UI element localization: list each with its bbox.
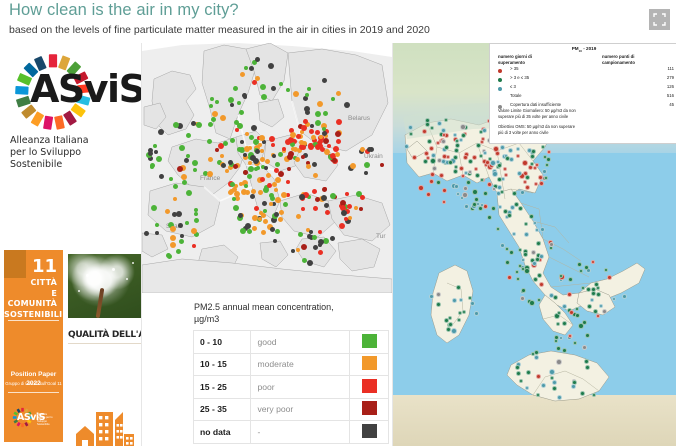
map-data-point (327, 144, 331, 148)
map-data-point (287, 167, 291, 171)
europe-map-panel[interactable]: Belarus Ukrain France Spain Tur PM2.5 an… (141, 43, 392, 446)
pm10-legend-box: PM10 - 2019 numero giorni di superamento… (489, 43, 676, 144)
map-data-point (347, 204, 352, 209)
map-data-point (260, 177, 265, 182)
left-branding-column: ASviS Alleanza Italiana per lo Sviluppo … (0, 43, 141, 446)
map-data-point (463, 186, 468, 191)
map-data-point (207, 171, 213, 177)
map-data-point (436, 180, 441, 185)
legend-range: 0 - 10 (194, 331, 251, 354)
map-data-point (526, 370, 531, 375)
asvis-tagline: Alleanza Italiana per lo Sviluppo Sosten… (10, 135, 138, 171)
map-data-point (515, 270, 519, 274)
map-data-point (192, 160, 198, 166)
legend-table: 0 - 10good10 - 15moderate15 - 25poor25 -… (193, 330, 389, 444)
map-data-point (602, 309, 607, 314)
map-data-point (173, 122, 179, 128)
map-data-point (221, 163, 226, 168)
city-buildings-icon (74, 408, 136, 446)
sdg-goal-line2: E COMUNITÀ (4, 289, 57, 310)
pm10-row-value: 111 (667, 66, 674, 71)
position-paper-sublabel: Gruppo di Lavoro sull'Goal 11 (4, 381, 63, 387)
pm10-legend-row: ≤ 3126 (498, 84, 674, 93)
map-data-point (544, 176, 548, 180)
legend-range: 25 - 35 (194, 398, 251, 421)
legend-title: PM2.5 annual mean concentration, µg/m3 (194, 301, 384, 325)
map-data-point (534, 182, 538, 186)
map-data-point (255, 57, 260, 62)
map-data-point (186, 190, 192, 196)
map-data-point (302, 258, 307, 263)
map-data-point (278, 171, 284, 177)
asvis-tagline-line1: Alleanza Italiana (10, 135, 138, 147)
map-data-point (446, 155, 450, 159)
legend-row: no data- (194, 421, 389, 444)
map-data-point (507, 213, 512, 218)
map-data-point (492, 171, 498, 177)
map-data-point (344, 217, 348, 221)
map-data-point (263, 209, 267, 213)
map-data-point (260, 149, 264, 153)
map-data-point (235, 128, 239, 132)
map-data-point (322, 78, 327, 83)
map-data-point (270, 227, 275, 232)
map-data-point (237, 101, 241, 105)
map-data-point (275, 162, 280, 167)
map-data-point (271, 143, 275, 147)
map-data-point (426, 156, 430, 160)
map-data-point (360, 195, 365, 200)
map-data-point (156, 156, 162, 162)
dandelion-seed-head-photo (68, 254, 141, 318)
map-data-point (324, 149, 330, 155)
map-data-point (557, 311, 561, 315)
map-data-point (581, 286, 585, 290)
map-data-point (238, 213, 243, 218)
map-data-point (516, 371, 521, 376)
map-data-point (313, 173, 318, 178)
map-data-point (331, 97, 335, 101)
map-data-point (223, 141, 228, 146)
map-data-point (569, 310, 574, 315)
map-data-point (296, 248, 300, 252)
map-data-point (453, 155, 458, 160)
map-data-point (498, 205, 502, 209)
map-data-point (335, 152, 340, 157)
map-data-point (554, 335, 559, 340)
map-data-point (541, 383, 546, 388)
map-data-point (369, 147, 374, 152)
sdg-goal-title: CITTÀ E COMUNITÀ SOSTENIBILI (4, 278, 63, 320)
map-data-point (541, 145, 545, 149)
map-data-point (509, 250, 514, 255)
pm10-note-1: Valore Limite Giornaliero: 50 µg/m3 da n… (498, 108, 674, 120)
pm10-row-label: > 35 (510, 66, 518, 71)
map-data-point (360, 147, 365, 152)
map-data-point (193, 168, 197, 172)
map-data-point (404, 144, 409, 149)
map-data-point (239, 182, 243, 186)
map-data-point (170, 226, 176, 232)
pm10-note-2-l2: più di 3 volte per anno civile (498, 130, 674, 136)
map-data-point (247, 174, 252, 179)
map-data-point (170, 242, 176, 248)
map-data-point (568, 277, 573, 282)
map-data-point (230, 138, 235, 143)
map-data-point (496, 227, 500, 231)
map-data-point (436, 292, 441, 297)
map-data-point (512, 232, 516, 236)
map-data-point (230, 182, 235, 187)
map-data-point (441, 159, 446, 164)
map-data-point (315, 197, 320, 202)
legend-label: - (251, 421, 350, 444)
map-data-point (348, 216, 352, 220)
map-data-point (247, 229, 252, 234)
europe-pm25-dot-map[interactable]: Belarus Ukrain France Spain Tur (142, 43, 392, 293)
map-data-point (312, 162, 317, 167)
map-data-point (310, 124, 314, 128)
pm10-row-label: > 3 e ≤ 35 (510, 75, 529, 80)
map-data-point (487, 215, 492, 220)
pm10-row-value: 126 (667, 84, 674, 89)
map-data-point (409, 132, 413, 136)
legend-row: 15 - 25poor (194, 376, 389, 399)
map-data-point (299, 194, 305, 200)
map-data-point (523, 180, 527, 184)
map-data-point (622, 294, 627, 299)
map-data-point (252, 215, 258, 221)
pm10-row-label: Copertura dati insufficiente (510, 102, 561, 107)
map-data-point (208, 157, 213, 162)
map-data-point (562, 348, 567, 353)
map-data-point (323, 111, 328, 116)
map-data-point (268, 63, 274, 69)
map-data-point (479, 130, 483, 134)
map-data-point (263, 219, 268, 224)
map-data-point (408, 125, 413, 130)
map-data-point (335, 131, 341, 137)
pm10-bullet-dot (498, 69, 502, 73)
legend-row: 0 - 10good (194, 331, 389, 354)
map-data-point (273, 239, 277, 243)
caption-divider (68, 343, 141, 344)
map-data-point (153, 144, 157, 148)
sdg-divider-bottom (8, 392, 59, 393)
map-data-point (209, 104, 213, 108)
map-data-point (332, 158, 337, 163)
map-data-point (155, 231, 159, 235)
map-data-point (461, 174, 465, 178)
map-data-point (423, 159, 428, 164)
pm10-row-label: ≤ 3 (510, 84, 516, 89)
map-data-point (234, 120, 239, 125)
legend-label: poor (251, 376, 350, 399)
fullscreen-button[interactable] (649, 9, 670, 30)
map-data-point (552, 380, 557, 385)
map-data-point (248, 166, 254, 172)
legend-swatch-cell (350, 421, 389, 444)
map-data-point (250, 194, 255, 199)
map-data-point (580, 391, 585, 396)
legend-color-swatch (362, 401, 377, 415)
map-data-point (535, 163, 539, 167)
map-data-point (557, 395, 562, 400)
map-data-point (248, 146, 252, 150)
page-header: How clean is the air in my city? based o… (0, 0, 676, 43)
map-data-point (552, 386, 557, 391)
legend-swatch-cell (350, 331, 389, 354)
legend-color-swatch (362, 334, 377, 348)
map-data-point (301, 145, 306, 150)
country-label: Tur (376, 233, 386, 240)
map-data-point (269, 202, 273, 206)
legend-row: 10 - 15moderate (194, 353, 389, 376)
map-data-point (525, 386, 529, 390)
map-data-point (272, 154, 276, 158)
map-data-point (453, 169, 458, 174)
map-data-point (255, 76, 260, 81)
sdg-goal-line3: SOSTENIBILI (4, 310, 57, 321)
pm10-legend-row: > 3 e ≤ 35279 (498, 75, 674, 84)
legend-color-swatch (362, 356, 377, 370)
map-data-point (318, 239, 324, 245)
map-data-point (432, 166, 437, 171)
pm10-legend-title: PM10 - 2019 (490, 46, 676, 53)
map-data-point (442, 188, 447, 193)
map-data-point (317, 101, 323, 107)
map-data-point (299, 140, 304, 145)
legend-color-swatch (362, 424, 377, 438)
map-data-point (430, 172, 435, 177)
pm10-note-2: Obiettivo OMS: 50 µg/m3 da non superare … (498, 124, 674, 136)
country-label: Belarus (348, 115, 370, 122)
map-data-point (173, 184, 178, 189)
map-data-point (523, 252, 528, 257)
map-data-point (507, 275, 512, 280)
map-data-point (466, 180, 471, 185)
asvis-logo-block: ASviS Alleanza Italiana per lo Sviluppo … (4, 47, 138, 197)
asvis-wordmark: ASviS (30, 67, 144, 111)
map-data-point (425, 122, 430, 127)
map-data-point (536, 393, 540, 397)
map-data-point (364, 162, 370, 168)
map-data-point (267, 183, 272, 188)
map-data-point (515, 365, 520, 370)
map-data-point (182, 180, 187, 185)
map-data-point (233, 205, 239, 211)
map-data-point (431, 153, 436, 158)
country-label: Ukrain (364, 153, 383, 160)
map-data-point (336, 91, 341, 96)
map-data-point (457, 318, 461, 322)
map-data-point (275, 229, 280, 234)
map-data-point (586, 287, 591, 292)
map-data-point (285, 139, 291, 145)
map-data-point (500, 145, 505, 150)
map-data-point (165, 209, 170, 214)
map-data-point (487, 182, 492, 187)
map-data-point (448, 160, 453, 165)
map-data-point (286, 180, 290, 184)
map-data-point (264, 166, 268, 170)
map-data-point (505, 260, 510, 265)
map-data-point (148, 151, 153, 156)
map-data-point (504, 173, 508, 177)
map-data-point (463, 155, 468, 160)
legend-range: no data (194, 421, 251, 444)
map-data-point (483, 191, 488, 196)
map-data-point (516, 277, 520, 281)
map-data-point (176, 249, 181, 254)
map-data-point (154, 150, 158, 154)
map-data-point (286, 88, 290, 92)
pm10-col-header-left: numero giorni di superamento (498, 54, 570, 66)
map-data-point (539, 181, 544, 186)
map-data-point (470, 301, 475, 306)
map-data-point (585, 333, 590, 338)
map-data-point (380, 163, 384, 167)
pm10-bullet-dot (498, 87, 502, 91)
asvis-mini-tagline: Alleanza Italiana per lo Sviluppo Sosten… (37, 413, 56, 427)
map-data-point (418, 185, 424, 191)
map-data-point (535, 228, 539, 232)
map-data-point (293, 91, 299, 97)
map-data-point (330, 236, 335, 241)
pm10-col-header-right: numero punti di campionamento (602, 54, 674, 66)
pm10-row-label: Totale (510, 93, 521, 98)
italy-map-panel[interactable]: PM10 - 2019 numero giorni di superamento… (392, 43, 676, 446)
map-data-point (303, 119, 308, 124)
map-data-point (591, 291, 596, 296)
map-data-point (261, 230, 266, 235)
legend-title-line1: PM2.5 annual mean concentration, (194, 301, 384, 313)
map-data-point (305, 110, 310, 115)
sdg-goal-number: 11 (4, 258, 63, 276)
map-data-point (301, 207, 305, 211)
asvis-mini-logo: ASviS Alleanza Italiana per lo Sviluppo … (12, 406, 56, 430)
map-data-point (322, 187, 327, 192)
legend-swatch-cell (350, 353, 389, 376)
map-data-point (282, 147, 286, 151)
pm10-legend-row: Totale516 (498, 93, 674, 102)
map-data-point (290, 132, 296, 138)
legend-swatch-cell (350, 376, 389, 399)
map-data-point (169, 177, 173, 181)
map-data-point (194, 212, 198, 216)
map-data-point (185, 221, 189, 225)
map-data-point (318, 250, 323, 255)
pm25-legend: PM2.5 annual mean concentration, µg/m3 0… (190, 301, 392, 443)
map-data-point (241, 189, 247, 195)
map-data-point (529, 300, 535, 306)
air-quality-caption: QUALITÀ DELL'ARIA (68, 330, 141, 340)
map-data-point (442, 200, 446, 204)
map-data-point (512, 191, 517, 196)
map-data-point (547, 150, 551, 154)
page-subtitle: based on the levels of fine particulate … (9, 24, 430, 36)
sdg-goal-line1: CITTÀ (4, 278, 57, 289)
map-data-point (232, 187, 237, 192)
map-data-point (245, 223, 251, 229)
map-data-point (159, 174, 164, 179)
map-data-point (472, 189, 478, 195)
map-data-point (518, 206, 523, 211)
map-data-point (260, 84, 266, 90)
map-data-point (336, 119, 342, 125)
map-data-point (455, 139, 459, 143)
pm10-note-1-l2: superare più di 35 volte per anno civile (498, 114, 674, 120)
map-data-point (590, 298, 594, 302)
map-data-point (301, 244, 307, 250)
fullscreen-expand-icon (653, 13, 666, 26)
map-data-point (478, 206, 483, 211)
pm10-legend-row: > 35111 (498, 66, 674, 75)
map-data-point (252, 226, 257, 231)
map-data-point (248, 161, 252, 165)
map-data-point (545, 163, 549, 167)
map-data-point (500, 243, 505, 248)
map-data-point (429, 294, 434, 299)
map-data-point (454, 148, 459, 153)
map-data-point (520, 190, 525, 195)
map-data-point (301, 155, 305, 159)
map-data-point (341, 210, 347, 216)
map-data-point (462, 310, 466, 314)
map-data-point (215, 100, 219, 104)
legend-color-swatch (362, 379, 377, 393)
map-data-point (258, 217, 262, 221)
legend-title-line2: µg/m3 (194, 313, 384, 325)
map-data-point (596, 286, 600, 290)
map-data-point (562, 304, 567, 309)
map-data-point (324, 203, 329, 208)
map-data-point (454, 165, 458, 169)
map-data-point (184, 158, 189, 163)
map-data-point (556, 346, 561, 351)
legend-label: very poor (251, 398, 350, 421)
map-data-point (228, 160, 233, 165)
map-data-point (228, 97, 234, 103)
map-data-point (307, 260, 313, 266)
map-data-point (296, 134, 301, 139)
sdg-divider-top (8, 320, 59, 321)
pm10-bullet-dot (498, 78, 502, 82)
map-data-point (283, 202, 288, 207)
map-data-point (308, 144, 314, 150)
map-data-point (312, 189, 317, 194)
map-data-point (505, 156, 510, 161)
map-data-point (359, 207, 363, 211)
map-data-point (315, 144, 321, 150)
map-data-point (186, 133, 191, 138)
map-data-point (287, 154, 293, 160)
map-data-point (325, 210, 330, 215)
map-data-point (592, 393, 596, 397)
map-data-point (429, 179, 434, 184)
map-data-point (522, 160, 528, 166)
asvis-tagline-line3: Sostenibile (10, 159, 138, 171)
asvis-tagline-line2: per lo Sviluppo (10, 147, 138, 159)
map-data-point (496, 160, 500, 164)
legend-label: good (251, 331, 350, 354)
map-data-point (454, 184, 459, 189)
map-data-point (192, 244, 196, 248)
map-data-point (272, 182, 277, 187)
legend-row: 25 - 35very poor (194, 398, 389, 421)
map-data-point (549, 369, 555, 375)
map-data-point (281, 192, 287, 198)
